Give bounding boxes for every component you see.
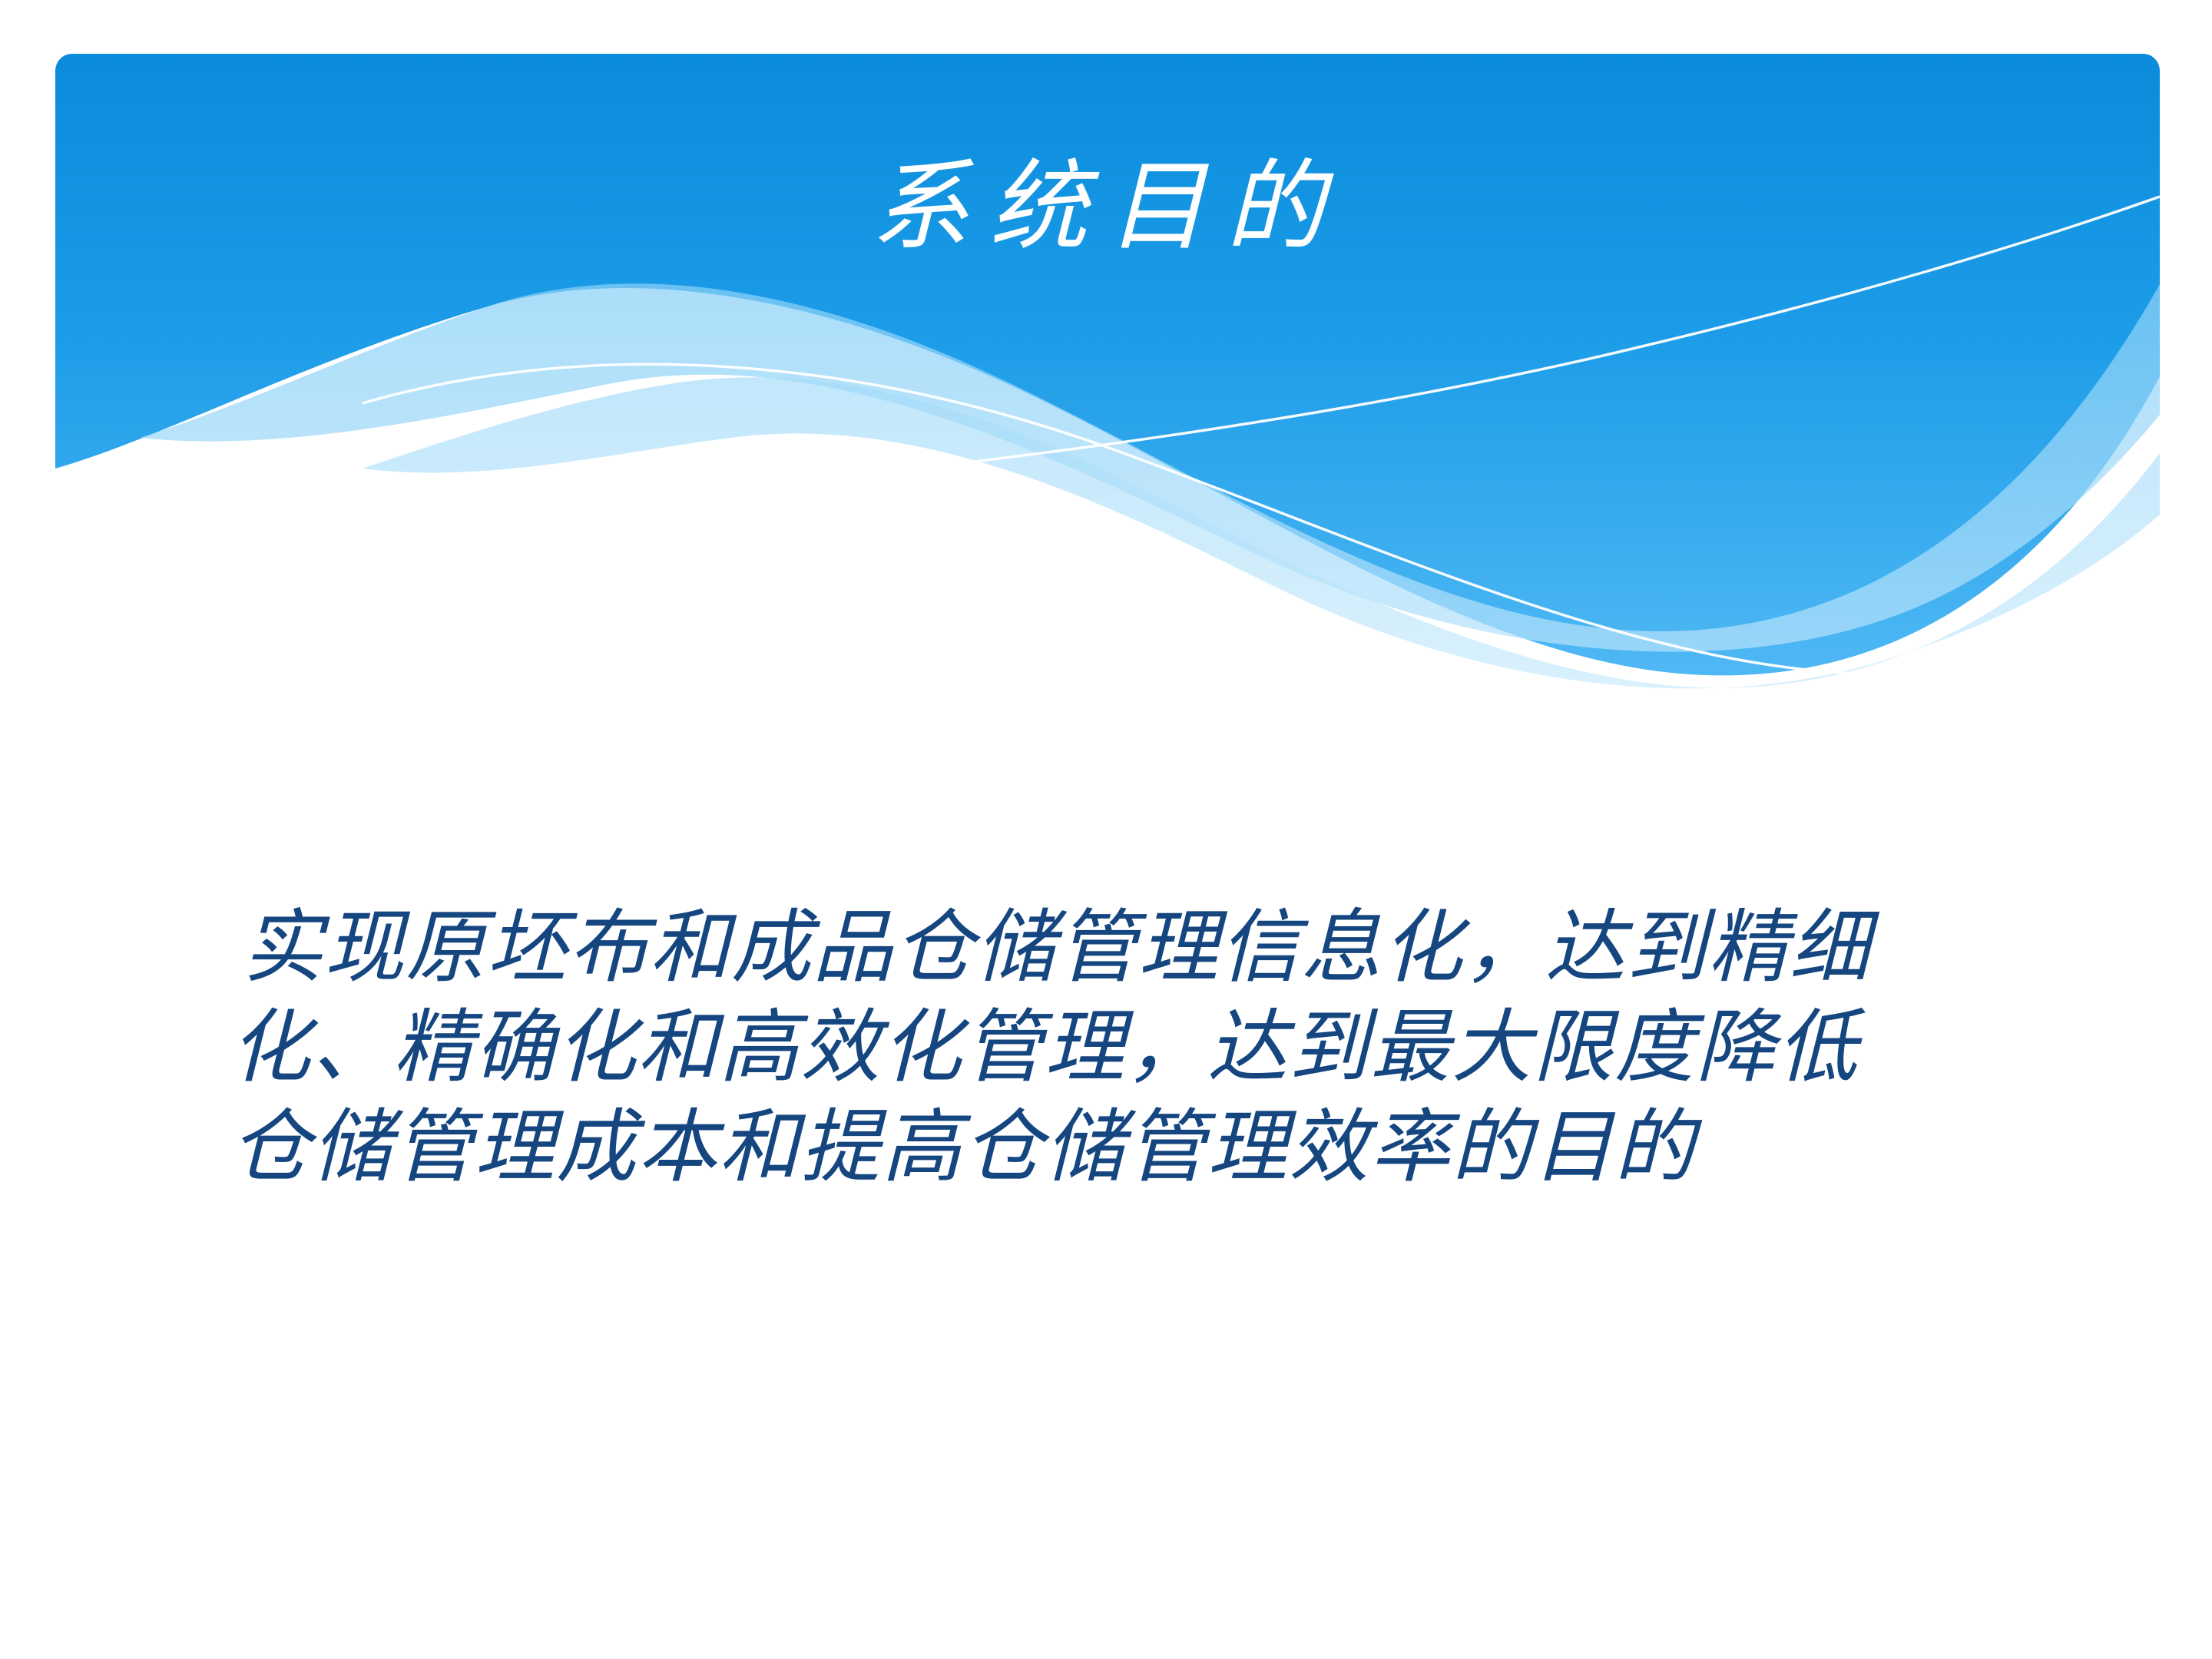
slide-title-container: 系统目的 [55, 146, 2160, 269]
body-text-line: 仓储管理成本和提高仓储管理效率的目的 [230, 1097, 2012, 1197]
page-title: 系统目的 [871, 146, 1344, 269]
body-text-line: 化、精确化和高效化管理，达到最大限度降低 [230, 997, 2012, 1097]
wave-hairline-descending [363, 364, 1845, 673]
wave-light-band-2 [363, 377, 2160, 688]
body-text-line: 实现原坯布和成品仓储管理信息化，达到精细 [230, 897, 2012, 997]
body-text-block: 实现原坯布和成品仓储管理信息化，达到精细 化、精确化和高效化管理，达到最大限度降… [230, 897, 2012, 1197]
presentation-slide: 系统目的 实现原坯布和成品仓储管理信息化，达到精细 化、精确化和高效化管理，达到… [0, 0, 2212, 1659]
wave-light-band-1 [140, 283, 2160, 651]
